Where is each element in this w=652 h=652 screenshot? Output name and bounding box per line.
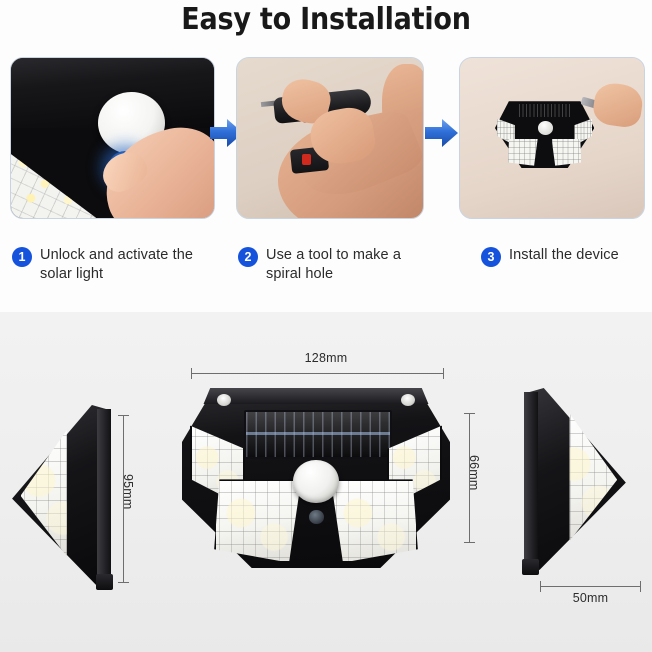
dimension-label-depth: 50mm [540,591,641,605]
step-2-caption: 2 Use a tool to make a spiral hole [238,246,428,284]
solar-light-product [495,101,594,168]
drill-battery-indicator [302,154,311,165]
step-label: Use a tool to make a spiral hole [266,246,428,284]
product-left-side-view [10,405,115,585]
mounting-foot [522,559,539,575]
product-right-side-view [520,388,628,570]
product-front-view [182,388,450,568]
solar-panel [244,410,393,459]
step-label: Unlock and activate the solar light [40,246,217,284]
step-2-photo [236,57,424,219]
page-title: Easy to Installation [0,2,652,37]
led-panel-front-left [214,479,301,562]
product-infographic: Easy to Installation [0,0,652,652]
motion-sensor-dome [538,121,553,134]
light-sensor [309,510,323,524]
led-panel-front-right [552,139,582,166]
dimension-label-height-front: 66mm [467,455,481,491]
step-1-caption: 1 Unlock and activate the solar light [12,246,217,284]
installation-steps-section: Easy to Installation [0,0,652,312]
led-panel-front-right [331,479,418,562]
step-label: Install the device [509,246,619,265]
led-panel-front-left [508,139,538,166]
step-number-badge: 3 [481,247,501,267]
housing-spine [524,392,538,567]
arrow-right-icon [425,118,459,148]
motion-sensor-dome [293,460,339,503]
step-1-photo [10,57,215,219]
step-3-caption: 3 Install the device [481,246,652,267]
housing-spine [97,409,111,582]
solar-panel [519,104,571,117]
dimension-label-height-side: 95mm [121,474,135,510]
mounting-foot [96,574,113,590]
step-number-badge: 2 [238,247,258,267]
dimension-label-width: 128mm [0,351,652,365]
step-3-photo [459,57,645,219]
step-number-badge: 1 [12,247,32,267]
top-housing-edge [203,388,428,404]
